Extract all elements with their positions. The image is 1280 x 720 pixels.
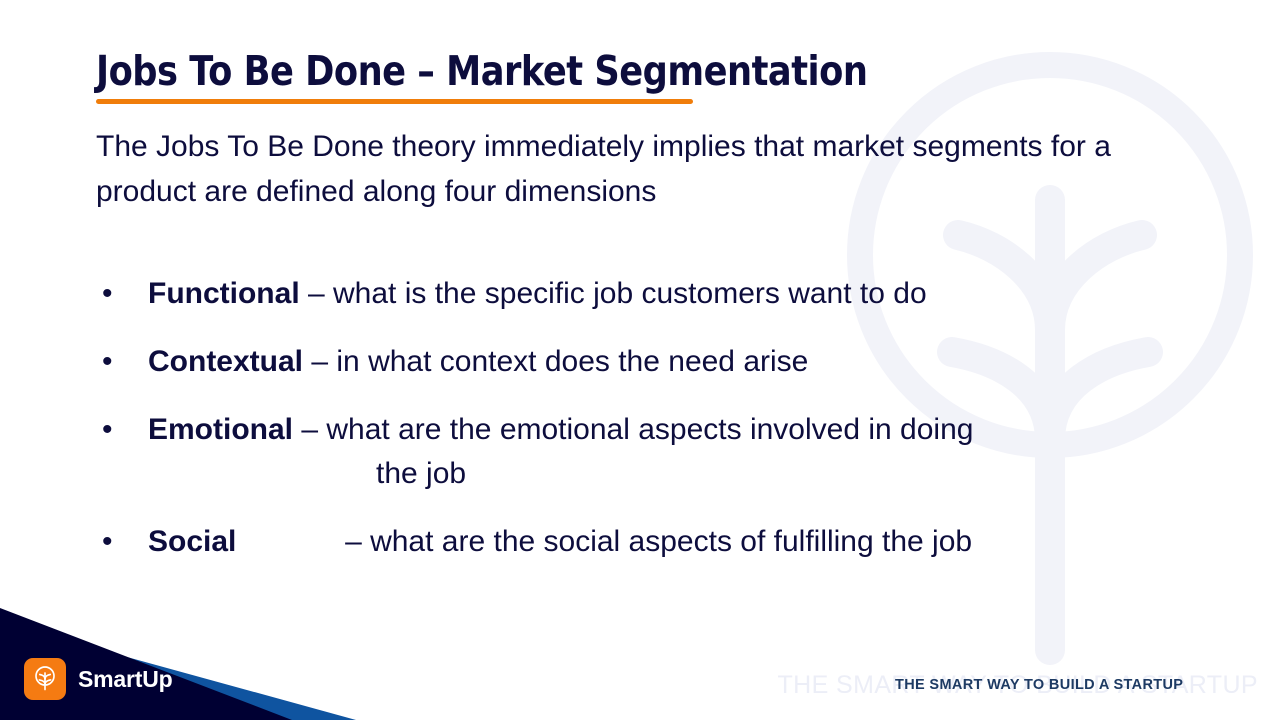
bullet-term: Social [148, 525, 236, 558]
bullet-dot-icon: • [102, 408, 113, 452]
bullet-description: – what is the specific job customers wan… [308, 277, 927, 310]
bullet-dot-icon: • [102, 272, 113, 316]
brand-logo: SmartUp [24, 658, 172, 700]
slide-canvas: Jobs To Be Done – Market Segmentation Th… [0, 0, 1280, 720]
bullet-list: • Functional – what is the specific job … [96, 272, 1216, 564]
bullet-dot-icon: • [102, 340, 113, 384]
bullet-term: Functional [148, 277, 300, 310]
page-title: Jobs To Be Done – Market Segmentation [96, 47, 956, 95]
bullet-dot-icon: • [102, 520, 113, 564]
title-underline [96, 99, 693, 104]
intro-paragraph: The Jobs To Be Done theory immediately i… [96, 124, 1156, 214]
bullet-term: Emotional [148, 413, 293, 446]
smartup-tree-logo-icon [24, 658, 66, 700]
bullet-description: – in what context does the need arise [311, 345, 808, 378]
bullet-term: Contextual [148, 345, 303, 378]
title-block: Jobs To Be Done – Market Segmentation [96, 47, 1096, 104]
bullet-description: – what are the social aspects of fulfill… [345, 525, 972, 558]
footer-tagline: THE SMART WAY TO BUILD A STARTUP [895, 677, 1183, 693]
bullet-description: – what are the emotional aspects involve… [301, 413, 973, 446]
list-item: • Functional – what is the specific job … [96, 272, 1216, 316]
list-item: • Emotional – what are the emotional asp… [96, 408, 1216, 496]
list-item: • Social – what are the social aspects o… [96, 520, 1216, 564]
bullet-continuation: the job [148, 452, 1216, 496]
brand-name: SmartUp [78, 666, 172, 693]
list-item: • Contextual – in what context does the … [96, 340, 1216, 384]
